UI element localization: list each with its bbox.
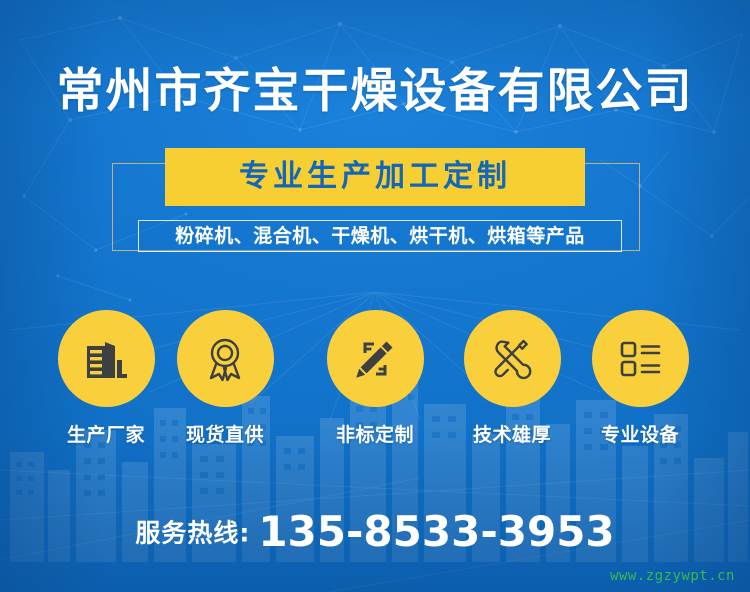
equipment-list-icon bbox=[615, 334, 665, 384]
hotline-number[interactable]: 135-8533-3953 bbox=[258, 507, 614, 556]
feature-list: 生产厂家 现货直供 bbox=[0, 310, 750, 458]
feature-label: 技术雄厚 bbox=[452, 424, 572, 446]
feature-item-technology[interactable]: 技术雄厚 bbox=[452, 310, 572, 446]
feature-item-manufacturer[interactable]: 生产厂家 bbox=[46, 310, 166, 446]
plaque-block: 专业生产加工定制 粉碎机、混合机、干燥机、烘干机、烘箱等产品 bbox=[0, 148, 750, 263]
company-title: 常州市齐宝干燥设备有限公司 bbox=[0, 64, 750, 120]
hotline-block: 服务热线:135-8533-3953 bbox=[0, 507, 750, 556]
feature-icon-circle bbox=[464, 310, 561, 407]
feature-icon-circle bbox=[327, 310, 424, 407]
product-line-box: 粉碎机、混合机、干燥机、烘干机、烘箱等产品 bbox=[138, 220, 622, 252]
feature-icon-circle bbox=[592, 310, 689, 407]
plaque-label: 专业生产加工定制 bbox=[239, 162, 511, 192]
feature-icon-circle bbox=[177, 310, 274, 407]
award-medal-icon bbox=[200, 334, 250, 384]
plaque-banner: 专业生产加工定制 bbox=[165, 148, 585, 206]
wrench-hammer-icon bbox=[487, 334, 537, 384]
feature-label: 生产厂家 bbox=[46, 424, 166, 446]
feature-icon-circle bbox=[58, 310, 155, 407]
factory-building-icon bbox=[81, 334, 131, 384]
product-line-label: 粉碎机、混合机、干燥机、烘干机、烘箱等产品 bbox=[175, 227, 585, 246]
feature-label: 非标定制 bbox=[315, 424, 435, 446]
feature-item-professional-equipment[interactable]: 专业设备 bbox=[580, 310, 700, 446]
pencil-design-icon bbox=[350, 334, 400, 384]
promotional-banner: 常州市齐宝干燥设备有限公司 专业生产加工定制 粉碎机、混合机、干燥机、烘干机、烘… bbox=[0, 0, 750, 592]
site-watermark: www.zgzywpt.cn bbox=[610, 568, 735, 584]
hotline-label: 服务热线: bbox=[135, 519, 250, 548]
feature-label: 专业设备 bbox=[580, 424, 700, 446]
feature-item-stock-supply[interactable]: 现货直供 bbox=[165, 310, 285, 446]
feature-label: 现货直供 bbox=[165, 424, 285, 446]
feature-item-custom-made[interactable]: 非标定制 bbox=[315, 310, 435, 446]
